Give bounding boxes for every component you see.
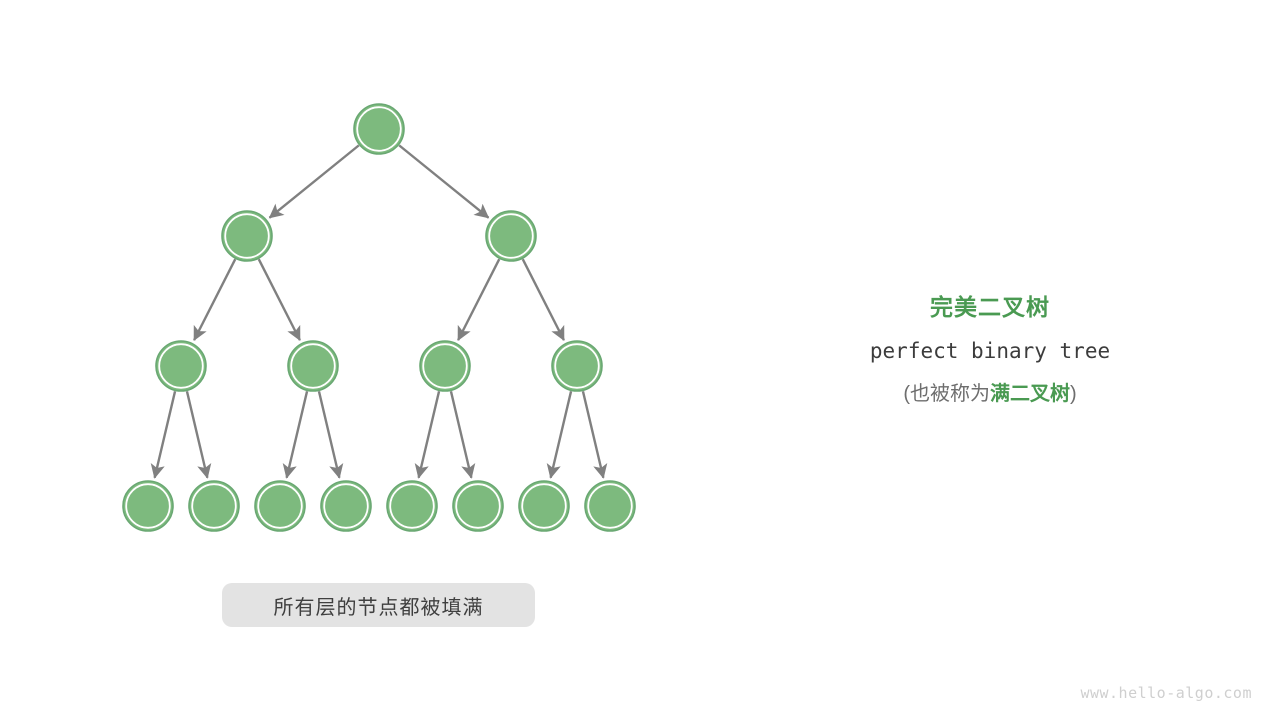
tree-node-outer-circle bbox=[552, 341, 602, 391]
tree-edge bbox=[287, 391, 307, 477]
tree-node bbox=[453, 481, 503, 531]
tree-node-outer-circle bbox=[453, 481, 503, 531]
watermark: www.hello-algo.com bbox=[1080, 684, 1252, 702]
tree-edge bbox=[187, 391, 207, 477]
tree-edge bbox=[583, 391, 603, 477]
tree-node bbox=[585, 481, 635, 531]
tree-node bbox=[486, 211, 536, 261]
tree-edge bbox=[270, 145, 359, 217]
tree-node bbox=[387, 481, 437, 531]
caption-badge: 所有层的节点都被填满 bbox=[222, 583, 535, 627]
legend-subtitle: perfect binary tree bbox=[790, 337, 1190, 365]
legend-alias-prefix: (也被称为 bbox=[903, 383, 990, 405]
caption-text: 所有层的节点都被填满 bbox=[274, 591, 484, 620]
tree-edge bbox=[155, 391, 175, 477]
tree-node-outer-circle bbox=[123, 481, 173, 531]
tree-node bbox=[189, 481, 239, 531]
tree-node-outer-circle bbox=[288, 341, 338, 391]
tree-edge bbox=[451, 391, 471, 477]
tree-node-outer-circle bbox=[222, 211, 272, 261]
tree-node-outer-circle bbox=[189, 481, 239, 531]
tree-node-outer-circle bbox=[420, 341, 470, 391]
tree-edge bbox=[259, 259, 300, 340]
tree-node-outer-circle bbox=[354, 104, 404, 154]
tree-node bbox=[255, 481, 305, 531]
diagram-canvas: 所有层的节点都被填满 完美二叉树 perfect binary tree (也被… bbox=[0, 0, 1280, 720]
tree-node bbox=[354, 104, 404, 154]
tree-node-outer-circle bbox=[255, 481, 305, 531]
legend-alias: (也被称为满二叉树) bbox=[790, 380, 1190, 408]
tree-node bbox=[420, 341, 470, 391]
tree-edge bbox=[319, 391, 339, 477]
tree-node bbox=[321, 481, 371, 531]
tree-node-outer-circle bbox=[519, 481, 569, 531]
tree-node-outer-circle bbox=[585, 481, 635, 531]
tree-node-outer-circle bbox=[321, 481, 371, 531]
tree-edge bbox=[419, 391, 439, 477]
tree-node bbox=[156, 341, 206, 391]
tree-node bbox=[552, 341, 602, 391]
tree-edge bbox=[399, 145, 488, 217]
tree-node bbox=[123, 481, 173, 531]
tree-nodes bbox=[123, 104, 635, 531]
legend-alias-suffix: ) bbox=[1070, 383, 1077, 405]
tree-edge bbox=[551, 391, 571, 477]
tree-edge bbox=[194, 259, 235, 340]
tree-node-outer-circle bbox=[486, 211, 536, 261]
tree-node-outer-circle bbox=[387, 481, 437, 531]
legend-block: 完美二叉树 perfect binary tree (也被称为满二叉树) bbox=[790, 292, 1190, 408]
tree-edge bbox=[458, 259, 499, 340]
tree-node bbox=[222, 211, 272, 261]
tree-node-outer-circle bbox=[156, 341, 206, 391]
legend-title: 完美二叉树 bbox=[790, 292, 1190, 322]
legend-alias-strong: 满二叉树 bbox=[990, 383, 1070, 405]
tree-node bbox=[288, 341, 338, 391]
tree-edge bbox=[523, 259, 564, 340]
tree-edges bbox=[155, 145, 604, 477]
tree-node bbox=[519, 481, 569, 531]
